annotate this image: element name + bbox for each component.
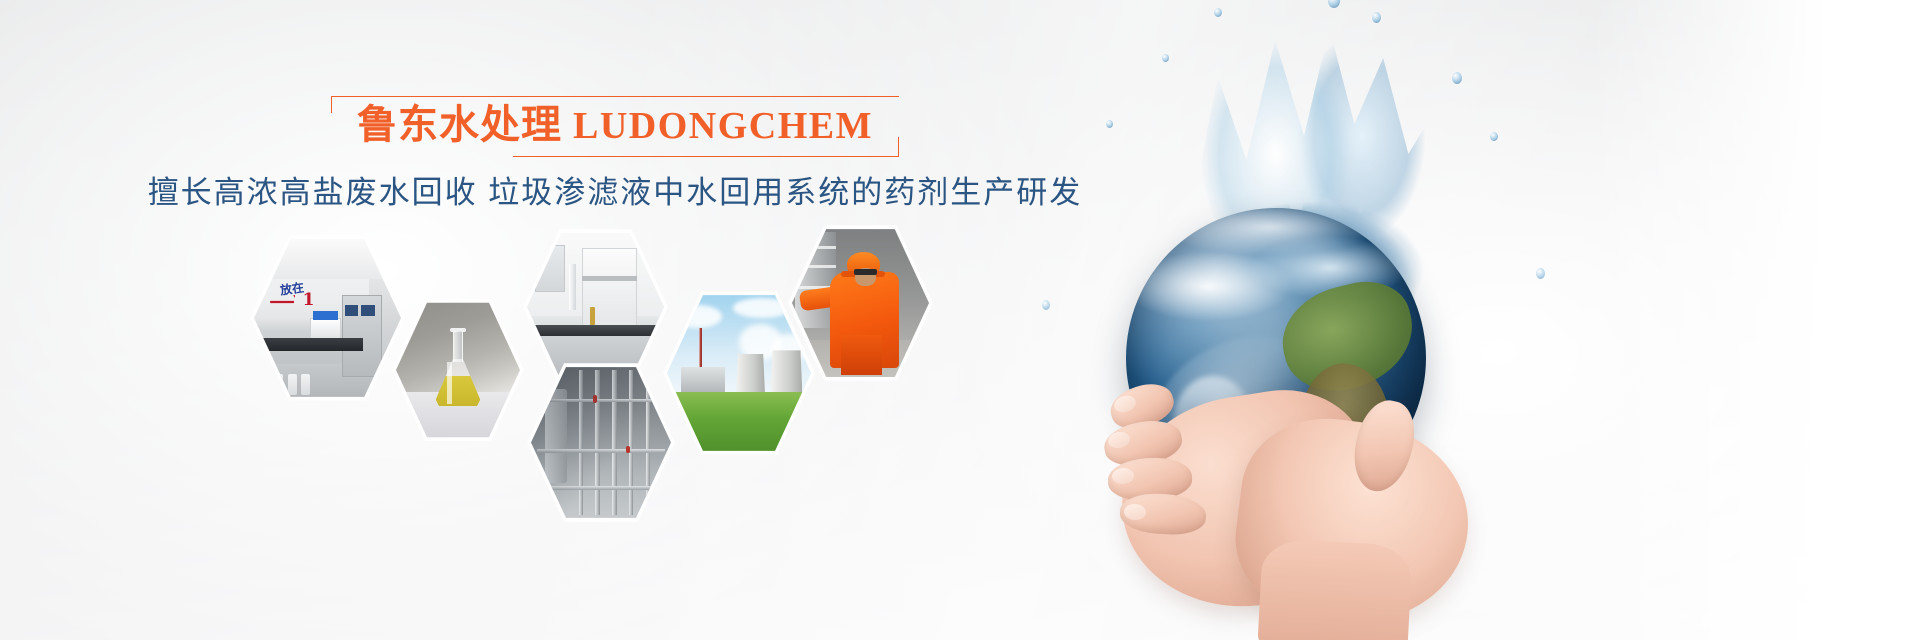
worker-pipe-band-1 (795, 246, 836, 250)
plant-cloud-1 (673, 305, 722, 328)
hero-banner: 鲁东水处理 LUDONGCHEM 擅长高浓高盐废水回收 垃圾渗滤液中水回用系统的… (0, 0, 1920, 640)
flask-neck (453, 331, 463, 362)
plant-cloud-2 (733, 298, 791, 317)
water-droplet-2 (1372, 12, 1381, 23)
lab-jug-1 (275, 374, 284, 395)
lab2-hood-bar (582, 276, 637, 281)
hex-photo-piping-image (531, 364, 671, 521)
pipe-shadow-overlay (531, 364, 671, 521)
lab2-window (535, 245, 565, 291)
photo-field-worker (792, 226, 929, 380)
worker-legs (841, 335, 882, 375)
hex-photo-flask[interactable] (392, 296, 524, 444)
splash-droplet-low-right (1536, 268, 1545, 279)
lab2-bench (527, 325, 664, 336)
water-droplet-6 (1490, 132, 1498, 141)
cupped-hands (1088, 330, 1508, 640)
right-fade-overlay (1590, 0, 1920, 640)
lab2-amber-bottle (590, 307, 595, 325)
photo-industrial-piping (531, 364, 671, 521)
lab-bench-leg (263, 351, 267, 387)
water-globe-artwork (1030, 0, 1590, 640)
photo-lab-equipment (527, 230, 664, 384)
lab-panel-a (345, 305, 358, 316)
hex-photo-flask-image (396, 300, 520, 440)
lab-jug-2 (288, 374, 297, 395)
water-droplet-3 (1214, 8, 1222, 17)
wall-slogan: 放在 1 (270, 280, 338, 323)
water-droplet-4 (1162, 54, 1169, 62)
photo-lab-room: 放在 1 (254, 236, 401, 400)
lab-jug-3 (301, 374, 310, 395)
hex-photo-worker[interactable] (788, 222, 933, 384)
wall-slogan-line1: 放在 (279, 279, 305, 299)
plant-cooling-tower-1 (736, 354, 765, 393)
worker-pipe-band-2 (795, 265, 836, 269)
lab-bench (260, 338, 363, 351)
wall-slogan-number: 1 (303, 290, 315, 310)
hex-photo-lab-room-image: 放在 1 (254, 236, 401, 400)
lab2-glassware (569, 264, 576, 310)
hex-photo-lab-equipment-image (527, 230, 664, 384)
lab-floor (254, 364, 401, 400)
photo-flask-sample (396, 300, 520, 440)
wrist (1257, 538, 1413, 640)
flask-highlight (447, 362, 452, 404)
photo-power-plant (667, 292, 811, 454)
water-droplet-5 (1452, 72, 1462, 84)
plant-building (681, 367, 724, 393)
hex-photo-power-plant[interactable] (663, 288, 815, 458)
lab-panel-b (361, 305, 374, 316)
hex-photo-lab-room[interactable]: 放在 1 (250, 232, 405, 404)
hexagon-photo-cluster: 放在 1 (0, 0, 1000, 640)
plant-cooling-tower-2 (771, 350, 803, 392)
worker-safety-goggles (854, 269, 877, 275)
hex-photo-power-plant-image (667, 292, 811, 454)
water-droplet-1 (1328, 0, 1340, 8)
splash-droplet-low-left (1042, 300, 1050, 310)
hex-photo-worker-image (792, 226, 929, 380)
lab-ceiling (254, 236, 401, 279)
water-droplet-7 (1106, 120, 1113, 128)
flask-body-yellow-liquid (436, 359, 481, 407)
hex-photo-piping[interactable] (527, 360, 675, 525)
plant-green-field (667, 392, 811, 454)
